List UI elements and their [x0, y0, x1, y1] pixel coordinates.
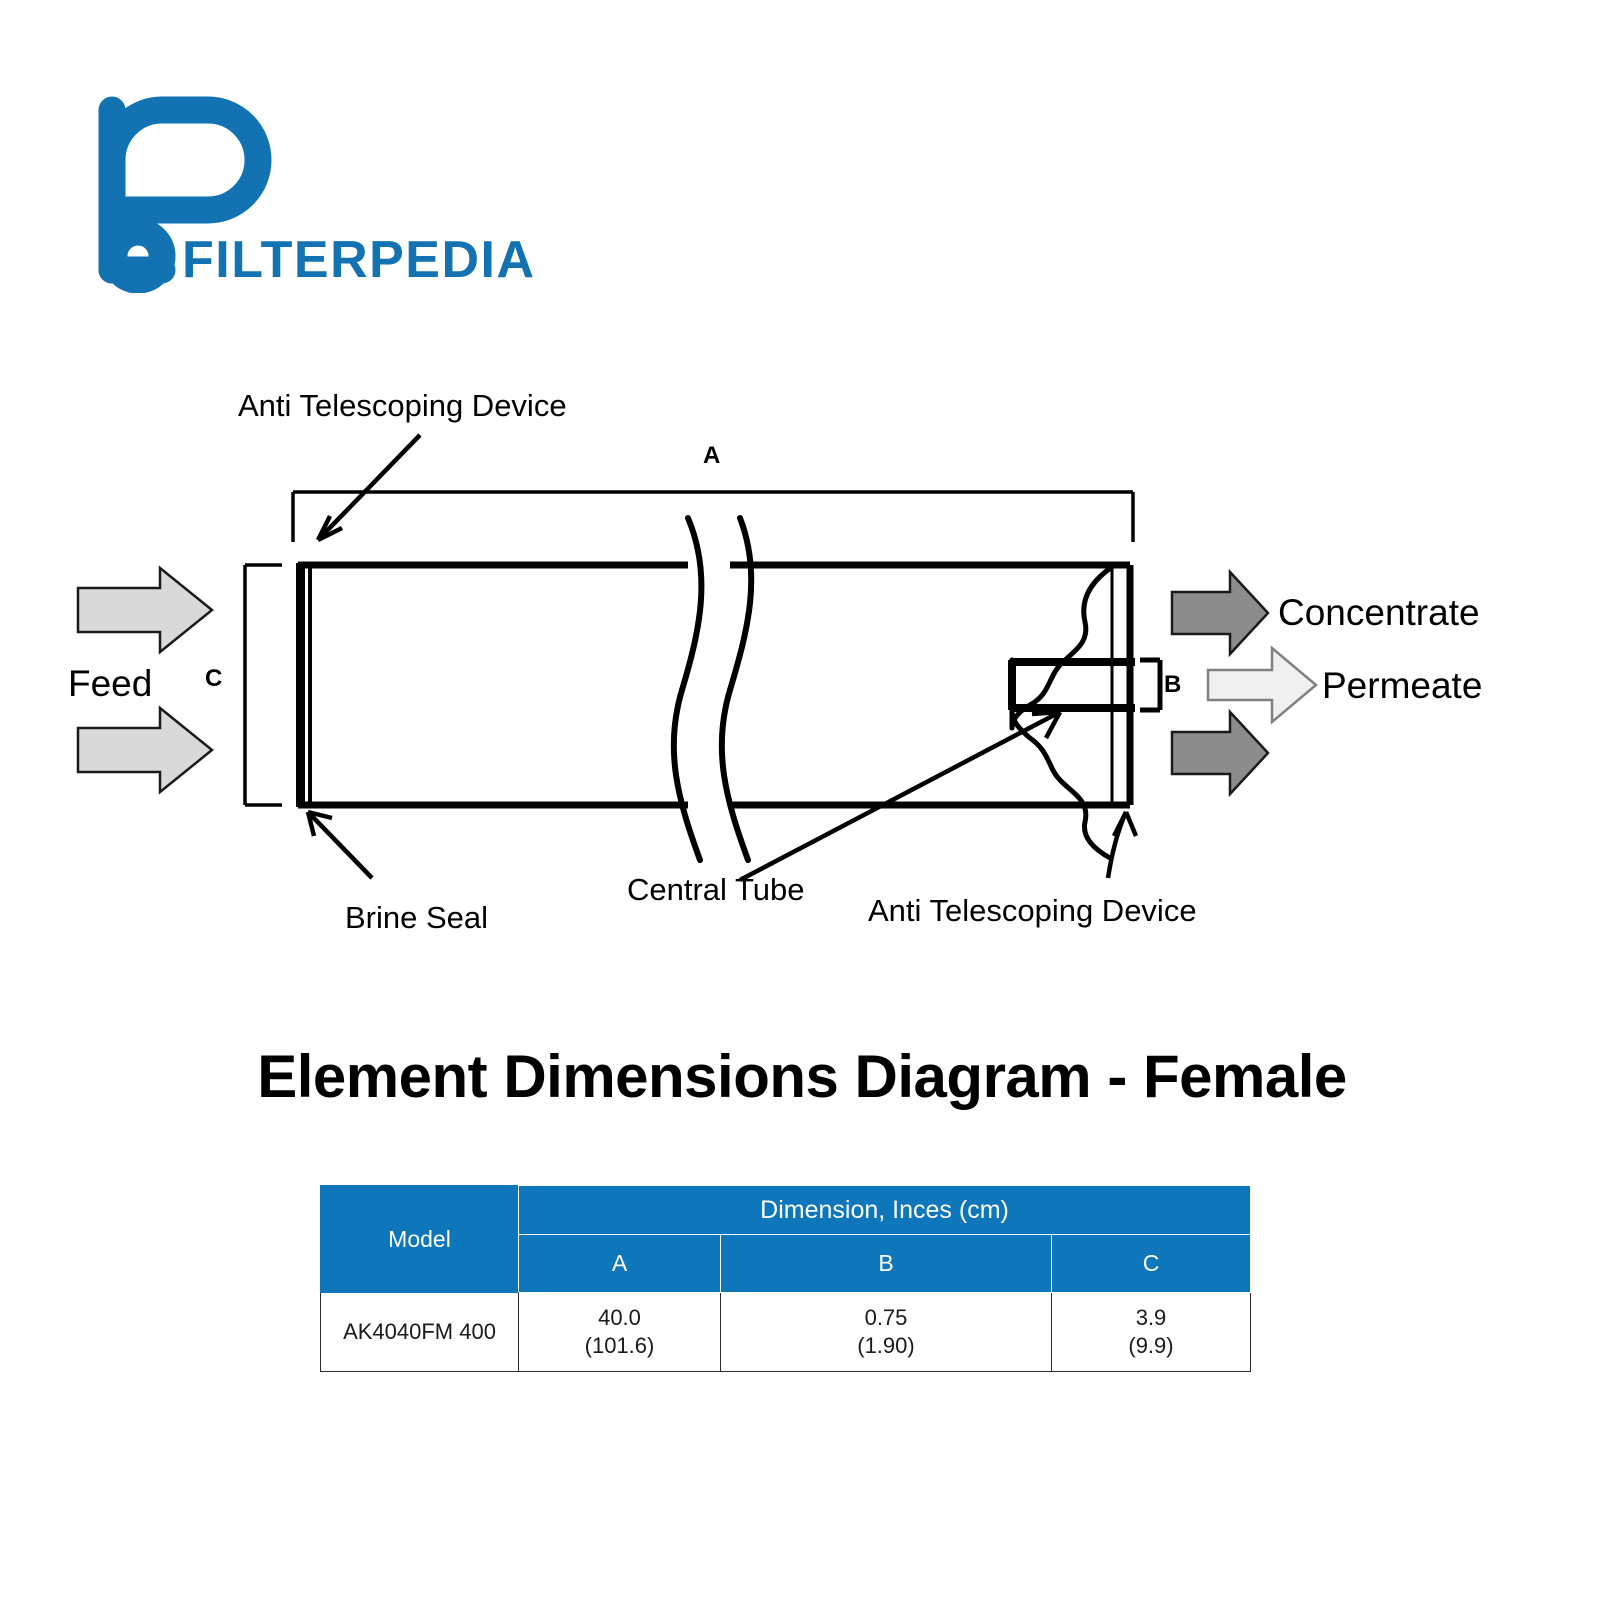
table-header-model: Model [321, 1186, 519, 1293]
label-dimension-b: B [1164, 671, 1181, 699]
label-anti-telescoping-top: Anti Telescoping Device [238, 388, 567, 424]
concentrate-arrow-upper [1172, 572, 1268, 654]
label-dimension-a: A [703, 442, 720, 470]
cell-dimension-a: 40.0 (101.6) [519, 1293, 721, 1372]
central-tube-break-lines [674, 518, 751, 860]
dimension-bracket-b [1140, 660, 1160, 710]
cell-c-cm: (9.9) [1052, 1332, 1250, 1360]
table-row: AK4040FM 400 40.0 (101.6) 0.75 (1.90) 3.… [321, 1293, 1251, 1372]
leader-brine-seal [308, 812, 372, 878]
cell-a-cm: (101.6) [519, 1332, 720, 1360]
cell-dimension-b: 0.75 (1.90) [721, 1293, 1052, 1372]
table-header-col-a: A [519, 1235, 721, 1293]
anti-telescoping-device-right-lower [1012, 670, 1110, 858]
leader-anti-telescoping-top [318, 435, 420, 540]
brine-seal-bar [296, 563, 312, 807]
feed-arrow-lower [78, 708, 212, 792]
cell-dimension-c: 3.9 (9.9) [1052, 1293, 1251, 1372]
dimension-bracket-a [293, 492, 1133, 542]
label-permeate: Permeate [1322, 665, 1482, 707]
brand-wordmark: FILTERPEDIA [182, 230, 536, 290]
label-concentrate: Concentrate [1278, 592, 1480, 634]
cell-c-inches: 3.9 [1052, 1304, 1250, 1332]
table-header-col-c: C [1052, 1235, 1251, 1293]
label-central-tube: Central Tube [627, 872, 805, 908]
table-header-group-row: Model Dimension, Inces (cm) [321, 1186, 1251, 1235]
page-title: Element Dimensions Diagram - Female [0, 1042, 1604, 1111]
label-feed: Feed [68, 663, 152, 705]
feed-arrow-upper [78, 568, 212, 652]
leader-anti-telescoping-bottom [1108, 812, 1136, 878]
cell-a-inches: 40.0 [519, 1304, 720, 1332]
label-brine-seal: Brine Seal [345, 900, 488, 936]
brand-logo: FILTERPEDIA [90, 88, 610, 303]
table-header-dimension-group: Dimension, Inces (cm) [519, 1186, 1251, 1235]
anti-telescoping-device-right [1012, 567, 1112, 728]
page-root: FILTERPEDIA [0, 0, 1604, 1604]
permeate-arrow [1208, 648, 1316, 722]
table-header-col-b: B [721, 1235, 1052, 1293]
leader-central-tube [740, 712, 1060, 880]
dimension-table: Model Dimension, Inces (cm) A B C AK4040… [320, 1185, 1251, 1372]
cell-model: AK4040FM 400 [321, 1293, 519, 1372]
cell-b-inches: 0.75 [721, 1304, 1051, 1332]
element-dimensions-diagram: Anti Telescoping Device A C B Feed Conce… [0, 360, 1604, 980]
membrane-element-body [298, 565, 1130, 805]
dimension-bracket-c [245, 565, 282, 805]
cell-b-cm: (1.90) [721, 1332, 1051, 1360]
label-anti-telescoping-bottom: Anti Telescoping Device [868, 893, 1197, 929]
label-dimension-c: C [205, 665, 222, 693]
concentrate-arrow-lower [1172, 712, 1268, 794]
